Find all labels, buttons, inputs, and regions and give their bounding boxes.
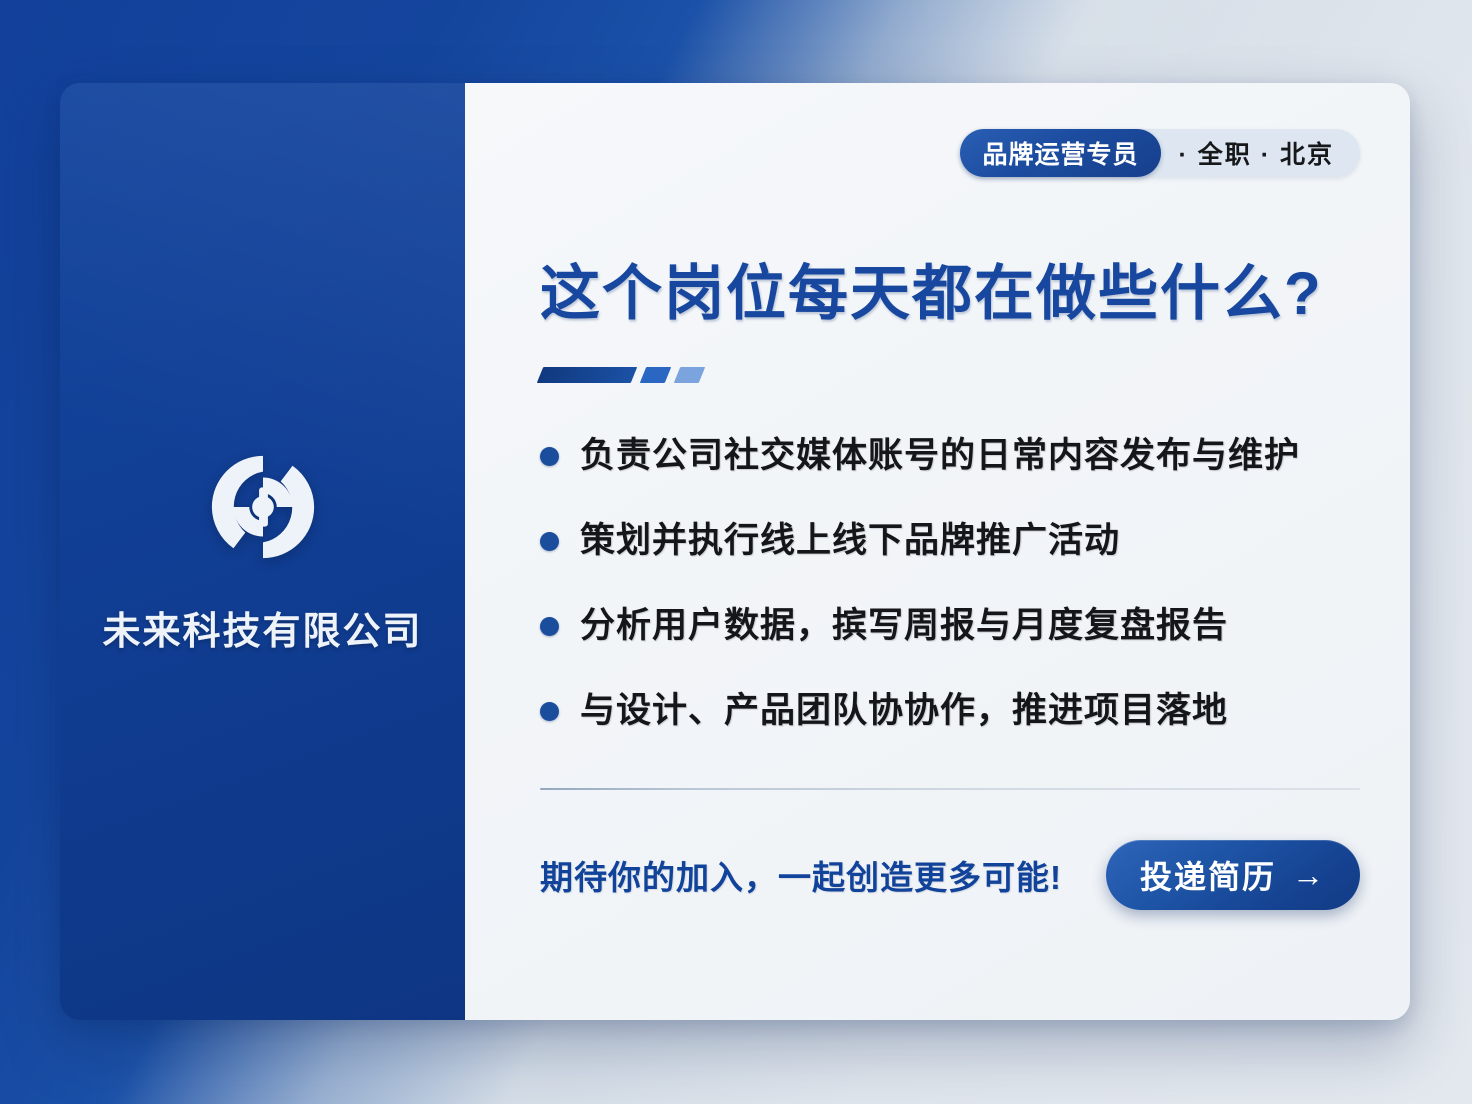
page-title: 这个岗位每天都在做些什么? <box>540 261 1360 327</box>
bullet-dot-icon <box>540 532 559 551</box>
job-meta-text: · 全职 · 北京 <box>1179 135 1335 171</box>
underline-segment-long <box>537 367 637 383</box>
underline-segment-short <box>674 367 705 383</box>
section-divider <box>540 788 1360 790</box>
title-block: 这个岗位每天都在做些什么? <box>540 221 1360 383</box>
bullet-dot-icon <box>540 617 559 636</box>
recruitment-card: 未来科技有限公司 品牌运营专员 · 全职 · 北京 这个岗位每天都在做些什么? <box>60 83 1410 1020</box>
job-meta-badge: 品牌运营专员 · 全职 · 北京 <box>960 129 1360 177</box>
title-underline-decoration <box>540 367 1360 383</box>
duties-list: 负责公司社交媒体账号的日常内容发布与维护 策划并执行线上线下品牌推广活动 分析用… <box>540 435 1360 732</box>
content-panel: 品牌运营专员 · 全职 · 北京 这个岗位每天都在做些什么? 负责公司社交媒体账… <box>465 83 1410 1020</box>
brand-panel: 未来科技有限公司 <box>60 83 465 1020</box>
list-item: 策划并执行线上线下品牌推广活动 <box>540 520 1360 562</box>
submit-resume-button[interactable]: 投递简历 → <box>1106 840 1360 910</box>
list-item: 与设计、产品团队协协作，推进项目落地 <box>540 690 1360 732</box>
bullet-dot-icon <box>540 447 559 466</box>
job-position-chip: 品牌运营专员 <box>960 129 1160 177</box>
badge-row: 品牌运营专员 · 全职 · 北京 <box>540 129 1360 177</box>
bullet-dot-icon <box>540 702 559 721</box>
footer-tagline: 期待你的加入，一起创造更多可能! <box>540 851 1062 899</box>
arrow-right-icon: → <box>1292 859 1326 891</box>
list-item: 分析用户数据，摈写周报与月度复盘报告 <box>540 605 1360 647</box>
poster-canvas: 未来科技有限公司 品牌运营专员 · 全职 · 北京 这个岗位每天都在做些什么? <box>0 0 1472 1104</box>
underline-segment-medium <box>640 367 671 383</box>
list-item: 负责公司社交媒体账号的日常内容发布与维护 <box>540 435 1360 477</box>
cta-label: 投递简历 <box>1140 852 1276 898</box>
duty-text: 负责公司社交媒体账号的日常内容发布与维护 <box>580 435 1300 477</box>
company-name: 未来科技有限公司 <box>102 600 422 655</box>
duty-text: 策划并执行线上线下品牌推广活动 <box>580 520 1120 562</box>
duty-text: 与设计、产品团队协协作，推进项目落地 <box>580 690 1228 732</box>
duty-text: 分析用户数据，摈写周报与月度复盘报告 <box>580 605 1228 647</box>
footer: 期待你的加入，一起创造更多可能! 投递简历 → <box>540 840 1360 910</box>
spiral-swirl-logo-icon <box>204 448 322 566</box>
